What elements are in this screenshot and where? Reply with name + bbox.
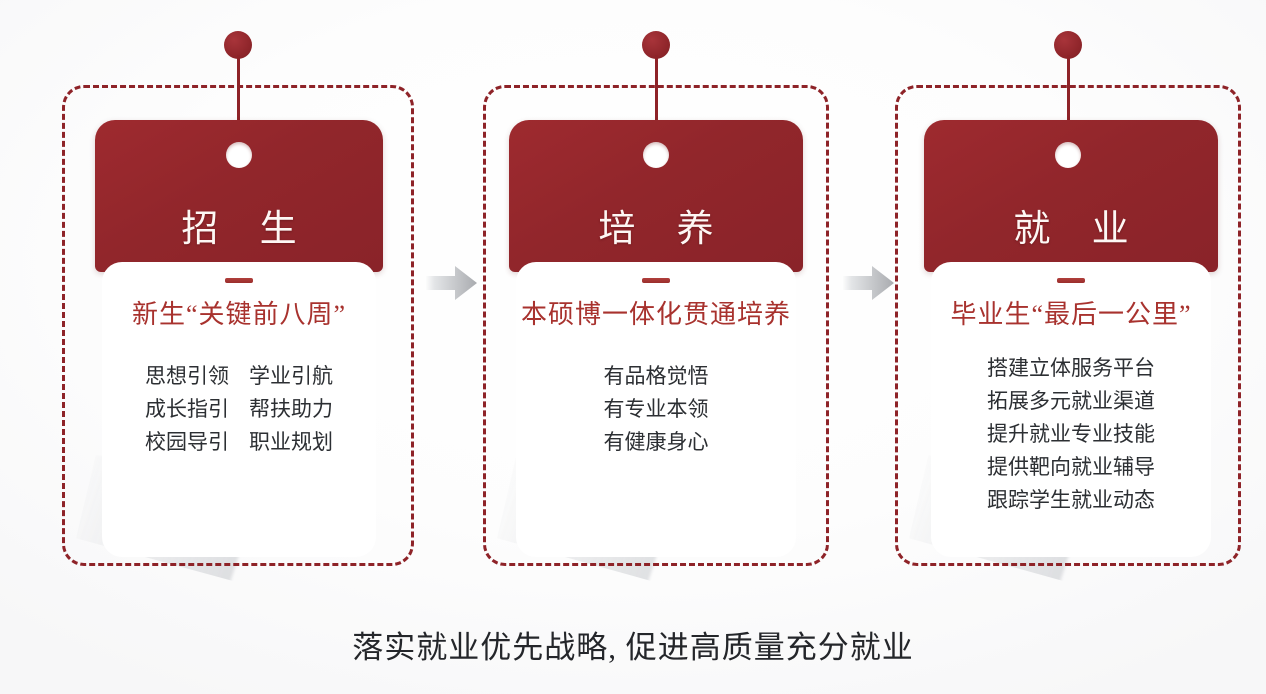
subtitle-divider bbox=[1057, 278, 1085, 283]
pillar-header-card: 就 业 bbox=[924, 120, 1218, 272]
list-item: 拓展多元就业渠道 bbox=[931, 385, 1211, 418]
pillar-subtitle: 新生“关键前八周” bbox=[102, 294, 376, 331]
pillar-title: 招 生 bbox=[95, 198, 383, 252]
pillar-bullet-list: 搭建立体服务平台 拓展多元就业渠道 提升就业专业技能 提供靶向就业辅导 跟踪学生… bbox=[931, 352, 1211, 517]
subtitle-divider bbox=[225, 278, 253, 283]
pillar-title: 就 业 bbox=[924, 198, 1218, 252]
flow-arrow-1-icon bbox=[425, 266, 477, 300]
list-item: 有品格觉悟 bbox=[516, 360, 796, 393]
pillar-header-card: 培 养 bbox=[509, 120, 803, 272]
pin-stem-icon bbox=[237, 55, 240, 123]
list-item-segment: 有健康身心 bbox=[604, 430, 709, 454]
pillar-bullet-list: 有品格觉悟 有专业本领 有健康身心 bbox=[516, 360, 796, 459]
list-item-segment: 提升就业专业技能 bbox=[987, 422, 1155, 446]
list-item: 搭建立体服务平台 bbox=[931, 352, 1211, 385]
list-item: 有专业本领 bbox=[516, 393, 796, 426]
pillar-body-panel: 新生“关键前八周” 思想引领学业引航 成长指引帮扶助力 校园导引职业规划 bbox=[102, 262, 376, 557]
list-item: 跟踪学生就业动态 bbox=[931, 484, 1211, 517]
list-item-segment: 有专业本领 bbox=[604, 397, 709, 421]
subtitle-divider bbox=[642, 278, 670, 283]
list-item-segment: 提供靶向就业辅导 bbox=[987, 455, 1155, 479]
list-item-segment: 搭建立体服务平台 bbox=[987, 356, 1155, 380]
list-item-segment: 跟踪学生就业动态 bbox=[987, 488, 1155, 512]
pillar-body-panel: 本硕博一体化贯通培养 有品格觉悟 有专业本领 有健康身心 bbox=[516, 262, 796, 557]
diagram-stage: 招 生 新生“关键前八周” 思想引领学业引航 成长指引帮扶助力 校园导引职业规划 bbox=[0, 0, 1266, 694]
pillar-header-card: 招 生 bbox=[95, 120, 383, 272]
list-item-segment: 思想引领 bbox=[145, 364, 229, 388]
pillar-bullet-list: 思想引领学业引航 成长指引帮扶助力 校园导引职业规划 bbox=[102, 360, 376, 459]
list-item-segment: 校园导引 bbox=[145, 430, 229, 454]
pillar-subtitle: 本硕博一体化贯通培养 bbox=[516, 294, 796, 331]
list-item: 有健康身心 bbox=[516, 426, 796, 459]
list-item: 提升就业专业技能 bbox=[931, 418, 1211, 451]
punch-hole-icon bbox=[643, 142, 669, 168]
pillar-subtitle: 毕业生“最后一公里” bbox=[931, 294, 1211, 331]
list-item-segment: 帮扶助力 bbox=[249, 397, 333, 421]
list-item-segment: 成长指引 bbox=[145, 397, 229, 421]
list-item: 提供靶向就业辅导 bbox=[931, 451, 1211, 484]
list-item: 成长指引帮扶助力 bbox=[102, 393, 376, 426]
pillar-body-panel: 毕业生“最后一公里” 搭建立体服务平台 拓展多元就业渠道 提升就业专业技能 提供… bbox=[931, 262, 1211, 557]
list-item: 校园导引职业规划 bbox=[102, 426, 376, 459]
punch-hole-icon bbox=[1055, 142, 1081, 168]
list-item-segment: 学业引航 bbox=[249, 364, 333, 388]
list-item-segment: 职业规划 bbox=[249, 430, 333, 454]
bottom-caption: 落实就业优先战略, 促进高质量充分就业 bbox=[0, 622, 1266, 667]
list-item-segment: 拓展多元就业渠道 bbox=[987, 389, 1155, 413]
list-item-segment: 有品格觉悟 bbox=[604, 364, 709, 388]
pillar-title: 培 养 bbox=[509, 198, 803, 252]
pin-stem-icon bbox=[655, 55, 658, 123]
flow-arrow-2-icon bbox=[842, 266, 894, 300]
list-item: 思想引领学业引航 bbox=[102, 360, 376, 393]
punch-hole-icon bbox=[226, 142, 252, 168]
pin-stem-icon bbox=[1067, 55, 1070, 123]
